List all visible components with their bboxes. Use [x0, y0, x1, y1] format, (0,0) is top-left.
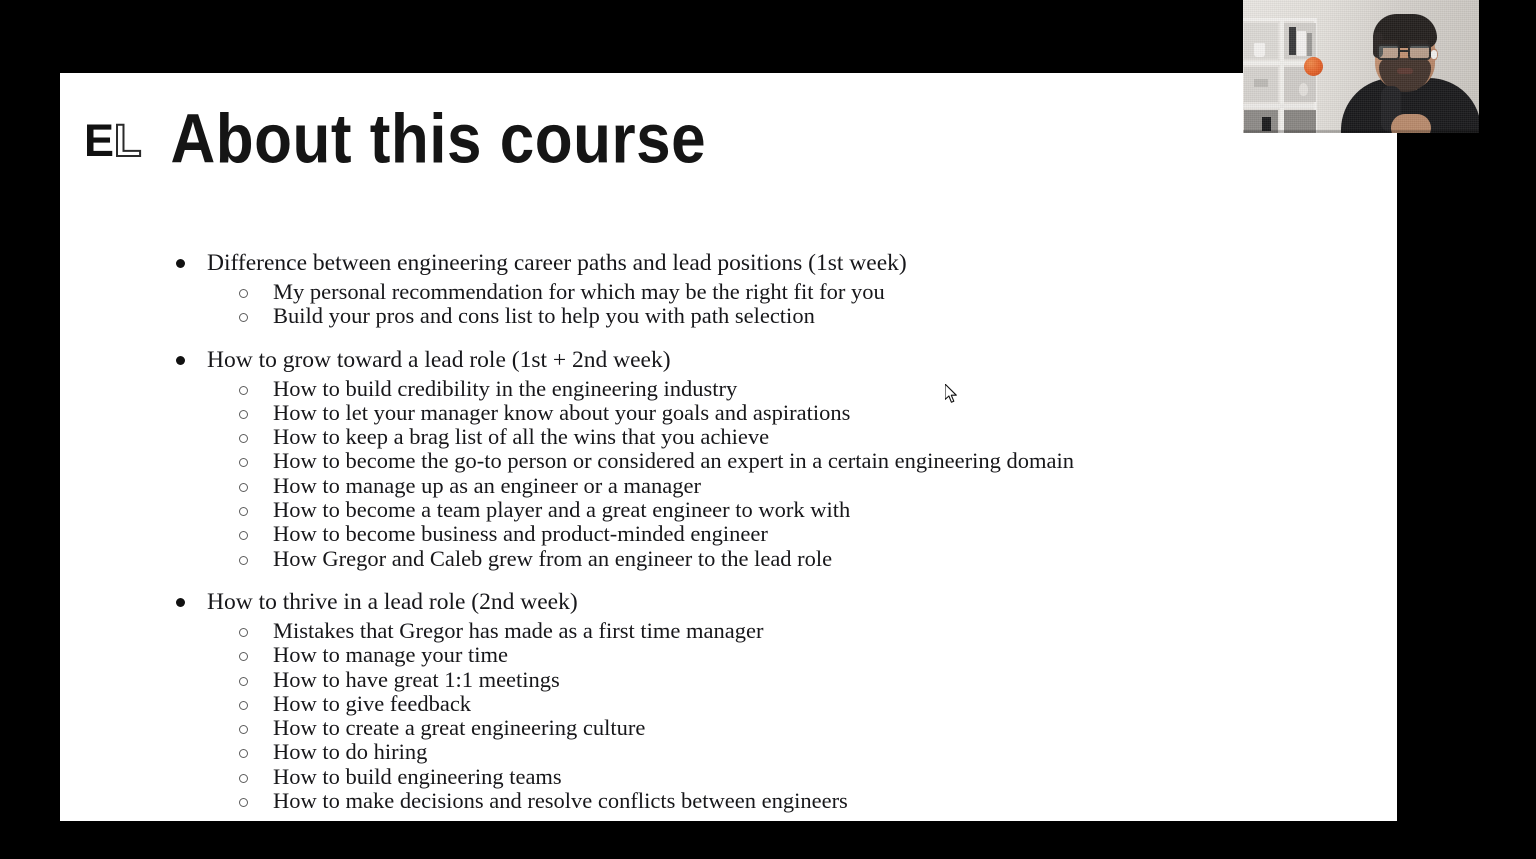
slide-header: E L About this course — [82, 101, 706, 179]
list-item-label: How to grow toward a lead role (1st + 2n… — [207, 345, 671, 375]
page-title: About this course — [171, 105, 707, 174]
list-item-level2: How to manage your time — [168, 641, 1377, 665]
presentation-slide: E L About this course Difference between… — [60, 73, 1397, 821]
shelf-object — [1254, 79, 1268, 87]
list-item-level1: How to grow toward a lead role (1st + 2n… — [168, 345, 1377, 375]
list-item-level2: How to have great 1:1 meetings — [168, 666, 1377, 690]
list-item-level2: My personal recommendation for which may… — [168, 278, 1377, 302]
list-item-label: How to make decisions and resolve confli… — [273, 787, 848, 814]
book-icon — [1289, 27, 1296, 55]
list-item-level1: How to thrive in a lead role (2nd week) — [168, 587, 1377, 617]
slide-content-list: Difference between engineering career pa… — [168, 248, 1377, 811]
content-group: Difference between engineering career pa… — [168, 248, 1377, 327]
content-group: How to thrive in a lead role (2nd week) … — [168, 587, 1377, 811]
list-item-level2: How to become the go-to person or consid… — [168, 447, 1377, 471]
orange-ball-object — [1304, 57, 1323, 76]
list-item-level2: How to build credibility in the engineer… — [168, 375, 1377, 399]
logo-letter-e: E — [84, 118, 113, 163]
shelf-unit — [1243, 18, 1317, 133]
list-item-label: Difference between engineering career pa… — [207, 248, 907, 278]
list-item-level2: How Gregor and Caleb grew from an engine… — [168, 545, 1377, 569]
list-item-label: How to thrive in a lead role (2nd week) — [207, 587, 578, 617]
shelf-object — [1262, 117, 1271, 131]
glasses-icon — [1375, 44, 1437, 60]
list-item-level2: How to do hiring — [168, 738, 1377, 762]
list-item-label: How Gregor and Caleb grew from an engine… — [273, 545, 832, 572]
mug-icon — [1254, 43, 1265, 57]
book-icon — [1297, 31, 1306, 56]
list-item-level2: How to give feedback — [168, 690, 1377, 714]
list-item-level2: How to keep a brag list of all the wins … — [168, 423, 1377, 447]
el-logo: E L — [84, 118, 141, 163]
presenter-figure — [1339, 8, 1479, 133]
list-item-level2: How to become a team player and a great … — [168, 496, 1377, 520]
list-item-level2: Build your pros and cons list to help yo… — [168, 302, 1377, 326]
book-icon — [1307, 33, 1312, 56]
list-item-level2: How to build engineering teams — [168, 763, 1377, 787]
presenter-video-overlay[interactable] — [1243, 0, 1479, 133]
screen-backdrop: E L About this course Difference between… — [0, 0, 1536, 859]
logo-letter-l: L — [114, 118, 141, 163]
content-group: How to grow toward a lead role (1st + 2n… — [168, 345, 1377, 569]
list-item-label: Build your pros and cons list to help yo… — [273, 302, 815, 329]
list-item-level2: Mistakes that Gregor has made as a first… — [168, 617, 1377, 641]
list-item-level2: How to make decisions and resolve confli… — [168, 787, 1377, 811]
video-bottom-edge — [1243, 130, 1479, 133]
list-item-level2: How to create a great engineering cultur… — [168, 714, 1377, 738]
list-item-level2: How to manage up as an engineer or a man… — [168, 472, 1377, 496]
list-item-level1: Difference between engineering career pa… — [168, 248, 1377, 278]
list-item-level2: How to become business and product-minde… — [168, 520, 1377, 544]
vase-icon — [1299, 83, 1308, 96]
list-item-level2: How to let your manager know about your … — [168, 399, 1377, 423]
